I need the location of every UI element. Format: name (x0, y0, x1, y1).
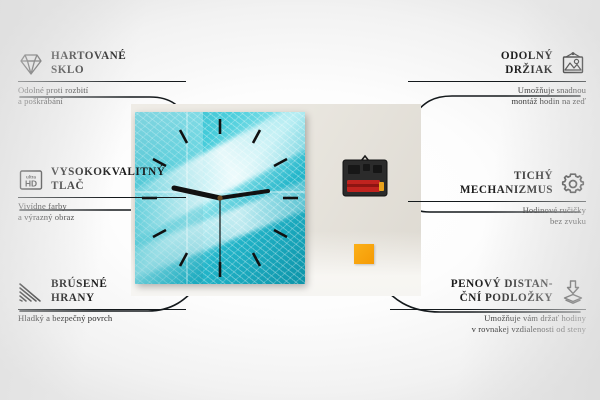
minute-hand (220, 191, 268, 198)
feature-foam-spacers: PENOVÝ DISTAN- ČNÍ PODLOŽKY Umožňuje vám… (390, 278, 586, 335)
feature-title: TICHÝ (460, 170, 553, 184)
feature-title-2: MECHANIZMUS (460, 184, 553, 198)
feature-title: ODOLNÝ (501, 50, 553, 64)
feature-title-2: DRŽIAK (501, 64, 553, 78)
feature-desc: Hladký a bezpečný povrch (18, 313, 186, 324)
feature-title: BRÚSENÉ (51, 278, 107, 292)
tick-1 (253, 130, 260, 143)
diamond-icon (18, 51, 44, 77)
divider (18, 309, 186, 310)
feature-desc: Hodinové ručičky (408, 205, 586, 216)
tick-4 (274, 230, 287, 237)
feature-desc-2: bez zvuku (408, 216, 586, 227)
feature-desc: Vivídne farby (18, 201, 186, 212)
feature-desc: Odolné proti rozbití (18, 85, 186, 96)
feature-desc: Umožňuje vám držať hodiny (390, 313, 586, 324)
feature-polished-edges: BRÚSENÉ HRANY Hladký a bezpečný povrch (18, 278, 186, 324)
gear-icon (560, 171, 586, 197)
ultra-hd-badge-icon: ultra HD (18, 167, 44, 193)
feature-desc-2: v rovnakej vzdialenosti od steny (390, 324, 586, 335)
battery-terminal (379, 182, 384, 191)
feature-desc-2: a poškrábání (18, 96, 186, 107)
arrow-onto-layers-icon (560, 279, 586, 305)
svg-text:HD: HD (25, 178, 37, 188)
tick-10 (153, 159, 166, 166)
divider (408, 81, 586, 82)
feature-high-quality-print: ultra HD VYSOKOKVALITNÝ TLAČ Vivídne far… (18, 166, 186, 223)
tick-5 (253, 253, 260, 266)
feature-title-2: TLAČ (51, 180, 165, 194)
diagonal-lines-icon (18, 279, 44, 305)
tick-8 (153, 230, 166, 237)
feature-silent-mechanism: TICHÝ MECHANIZMUS Hodinové ručičky bez z… (408, 170, 586, 227)
tick-11 (180, 130, 187, 143)
divider (18, 81, 186, 82)
feature-title-2: SKLO (51, 64, 126, 78)
clock-center-cap (217, 195, 222, 200)
feature-title-2: HRANY (51, 292, 107, 306)
tick-7 (180, 253, 187, 266)
feature-desc-2: montáž hodin na zeď (408, 96, 586, 107)
divider (18, 197, 186, 198)
feature-desc: Umožňuje snadnou (408, 85, 586, 96)
infographic-canvas: HARTOVANÉ SKLO Odolné proti rozbití a po… (0, 0, 600, 400)
feature-title-2: ČNÍ PODLOŽKY (451, 292, 553, 306)
divider (408, 201, 586, 202)
feature-durable-holder: ODOLNÝ DRŽIAK Umožňuje snadnou montáž ho… (408, 50, 586, 107)
feature-title: HARTOVANÉ (51, 50, 126, 64)
clock-mechanism (339, 154, 391, 200)
foam-spacer-pad (354, 244, 374, 264)
divider (390, 309, 586, 310)
feature-title: VYSOKOKVALITNÝ (51, 166, 165, 180)
feature-title: PENOVÝ DISTAN- (451, 278, 553, 292)
tick-2 (274, 159, 287, 166)
hanging-picture-frame-icon (560, 51, 586, 77)
feature-hardened-glass: HARTOVANÉ SKLO Odolné proti rozbití a po… (18, 50, 186, 107)
feature-desc-2: a výrazný obraz (18, 212, 186, 223)
